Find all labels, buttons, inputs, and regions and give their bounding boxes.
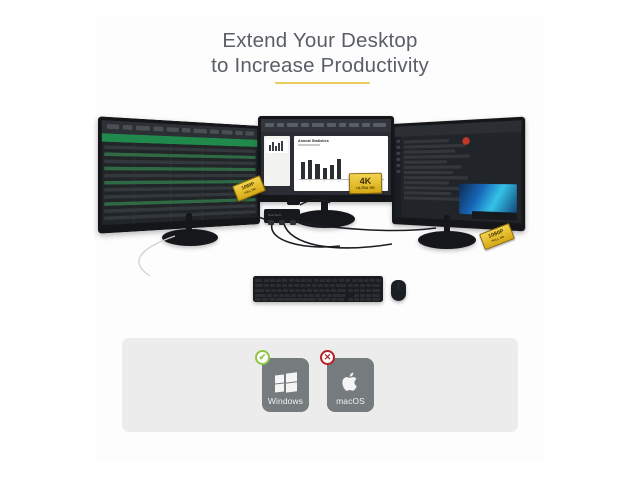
keyboard-key	[327, 294, 332, 297]
os-tile-windows[interactable]: Windows	[262, 358, 309, 412]
keyboard-key	[358, 279, 363, 282]
keyboard-key	[354, 289, 359, 292]
keyboard-key	[321, 294, 326, 297]
keyboard-key	[372, 298, 380, 301]
keyboard-key	[348, 284, 353, 287]
keyboard-key	[372, 294, 380, 297]
keyboard-key	[289, 279, 294, 282]
keyboard-key	[339, 279, 344, 282]
keyboard-key	[282, 279, 287, 282]
keyboard-key	[366, 298, 371, 301]
keyboard-key	[282, 284, 287, 287]
keyboard-key	[315, 294, 320, 297]
keyboard-key	[307, 289, 312, 292]
keyboard-key	[301, 289, 306, 292]
keyboard-key	[360, 289, 365, 292]
keyboard-key	[348, 298, 353, 301]
keyboard-key	[289, 289, 294, 292]
keyboard-key	[295, 279, 300, 282]
keyboard-key	[264, 279, 269, 282]
keyboard-key	[303, 294, 308, 297]
keyboard-key	[288, 284, 293, 287]
keyboard-key	[324, 284, 329, 287]
keyboard-key	[333, 294, 346, 297]
keyboard-key	[314, 279, 319, 282]
keyboard-key	[354, 298, 359, 301]
dock-brand-label: StarTech	[268, 213, 281, 217]
keyboard-key	[276, 279, 281, 282]
keyboard-key	[265, 289, 270, 292]
keyboard-key	[276, 298, 316, 301]
keyboard-key	[262, 298, 268, 301]
keyboard-key	[297, 294, 302, 297]
keyboard-key	[324, 298, 330, 301]
status-badge-windows-supported: ✔	[255, 350, 270, 365]
keyboard-key	[354, 284, 359, 287]
keyboard-key	[330, 284, 335, 287]
dock-port	[290, 220, 296, 225]
keyboard-key	[318, 284, 323, 287]
keyboard-key	[313, 289, 318, 292]
keyboard-key	[255, 289, 264, 292]
keyboard-key	[273, 294, 278, 297]
keyboard-key	[332, 279, 337, 282]
keyboard-key	[295, 289, 300, 292]
keyboard-key	[370, 279, 375, 282]
os-label-windows: Windows	[268, 396, 303, 406]
check-icon: ✔	[259, 353, 267, 362]
keyboard-key	[320, 279, 325, 282]
keyboard-key	[307, 279, 312, 282]
badge-4k-primary: 4K	[360, 177, 372, 186]
cross-icon: ✕	[324, 353, 332, 362]
keyboard-key	[366, 294, 371, 297]
keyboard-key	[267, 294, 272, 297]
windows-logo-icon	[275, 373, 296, 393]
keyboard-key	[372, 289, 380, 292]
product-marketing-image: Extend Your Desktop to Increase Producti…	[0, 0, 640, 480]
keyboard-key	[348, 289, 353, 292]
status-badge-macos-unsupported: ✕	[320, 350, 335, 365]
keyboard-key	[269, 298, 275, 301]
keyboard-key	[276, 284, 281, 287]
keyboard-key	[270, 284, 275, 287]
keyboard-key	[301, 279, 306, 282]
keyboard-key	[360, 284, 365, 287]
keyboard-key	[277, 289, 282, 292]
keyboard-key	[294, 284, 299, 287]
keyboard-key	[337, 289, 346, 292]
keyboard-key	[331, 289, 336, 292]
os-tile-macos[interactable]: macOS	[327, 358, 374, 412]
keyboard-key	[255, 284, 263, 287]
keyboard-key	[300, 284, 305, 287]
keyboard-key	[360, 294, 365, 297]
keyboard-key	[306, 284, 311, 287]
keyboard-key	[345, 279, 350, 282]
keyboard	[253, 276, 383, 302]
dock-port	[279, 220, 285, 225]
apple-logo-icon	[341, 371, 360, 393]
badge-4k-secondary: ULTRA HD	[356, 187, 375, 191]
keyboard-key	[372, 284, 380, 287]
keyboard-key	[255, 279, 262, 282]
keyboard-key	[366, 284, 371, 287]
keyboard-key	[271, 289, 276, 292]
keyboard-key	[376, 279, 381, 282]
keyboard-key	[326, 279, 331, 282]
keyboard-key	[283, 289, 288, 292]
keyboard-key	[309, 294, 314, 297]
keyboard-key	[317, 298, 323, 301]
os-compatibility-panel	[122, 338, 518, 432]
keyboard-key	[331, 298, 337, 301]
keyboard-key	[285, 294, 290, 297]
keyboard-key	[338, 298, 344, 301]
keyboard-key	[364, 279, 369, 282]
keyboard-key	[291, 294, 296, 297]
keyboard-key	[336, 284, 346, 287]
keyboard-key	[319, 289, 324, 292]
keyboard-key	[366, 289, 371, 292]
keyboard-key	[279, 294, 284, 297]
cable-plug	[287, 196, 300, 205]
keyboard-key	[360, 298, 365, 301]
cable-bundle	[0, 0, 640, 300]
mouse	[391, 280, 406, 301]
docking-station: StarTech	[264, 209, 300, 223]
keyboard-key	[354, 294, 359, 297]
keyboard-key	[325, 289, 330, 292]
keyboard-key	[264, 284, 269, 287]
dock-port	[268, 220, 274, 225]
os-label-macos: macOS	[336, 396, 365, 406]
keyboard-key	[255, 298, 261, 301]
keyboard-key	[312, 284, 317, 287]
keyboard-key	[352, 279, 357, 282]
badge-4k-ultra-hd: 4K ULTRA HD	[349, 173, 382, 195]
keyboard-key	[255, 294, 266, 297]
keyboard-key	[270, 279, 275, 282]
